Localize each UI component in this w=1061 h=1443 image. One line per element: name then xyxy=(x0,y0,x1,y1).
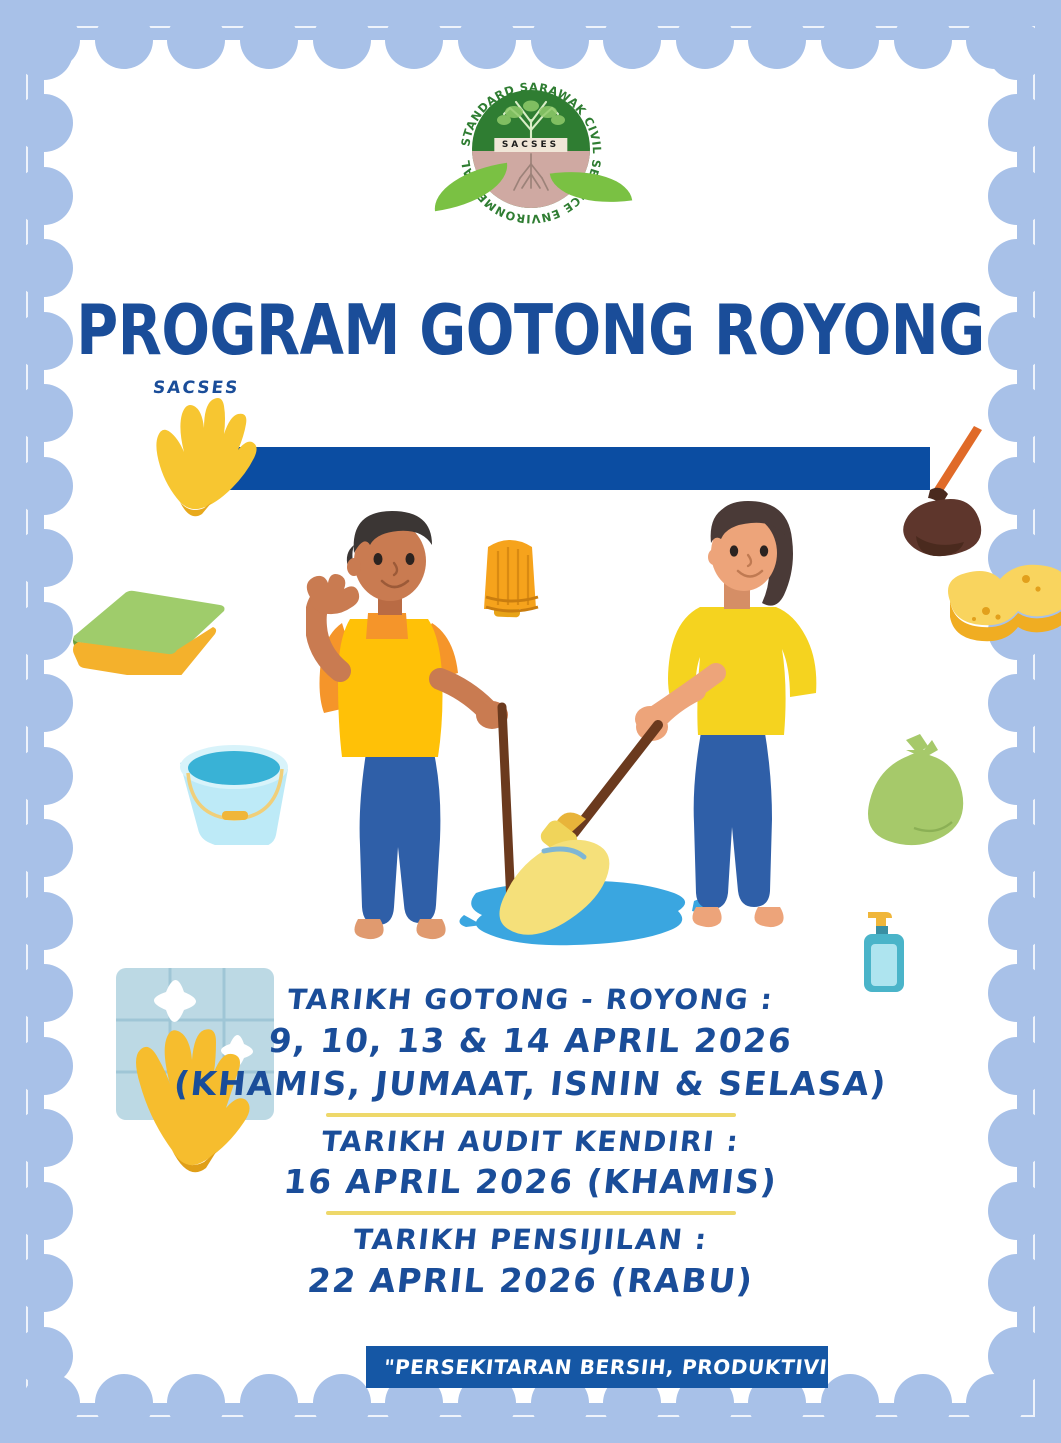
scallop-notch-bottom xyxy=(240,1374,298,1432)
audit-kendiri-value: 16 APRIL 2026 (KHAMIS) xyxy=(42,1161,1020,1204)
divider-1 xyxy=(326,1113,736,1117)
scallop-notch-top xyxy=(240,11,298,69)
scallop-notch-bottom xyxy=(821,1374,879,1432)
scallop-notch-right xyxy=(988,819,1046,877)
poster-root: STANDARD SARAWAK CIVIL SERVICE ENVIRONME… xyxy=(0,0,1061,1443)
scallop-notch-top xyxy=(894,11,952,69)
scallop-notch-bottom xyxy=(966,1374,1024,1432)
scallop-notch-left xyxy=(15,819,73,877)
gotong-royong-days: (KHAMIS, JUMAAT, ISNIN & SELASA) xyxy=(42,1063,1020,1106)
scallop-notch-bottom xyxy=(167,1374,225,1432)
scallop-notch-top xyxy=(22,11,80,69)
scallop-notch-top xyxy=(676,11,734,69)
scallop-notch-right xyxy=(988,674,1046,732)
scallop-notch-right xyxy=(988,892,1046,950)
scallop-notch-top xyxy=(531,11,589,69)
date-group-gotong-royong: TARIKH GOTONG - ROYONG : 9, 10, 13 & 14 … xyxy=(44,980,1017,1106)
scallop-notch-right xyxy=(988,1327,1046,1385)
scallop-notch-left xyxy=(15,457,73,515)
green-trash-bag-icon xyxy=(862,732,972,852)
scallop-notch-left xyxy=(15,22,73,80)
scallop-notch-left xyxy=(15,674,73,732)
scallop-notch-left xyxy=(15,892,73,950)
scallop-notch-top xyxy=(748,11,806,69)
dates-section: TARIKH GOTONG - ROYONG : 9, 10, 13 & 14 … xyxy=(44,980,1017,1303)
pensijilan-value: 22 APRIL 2026 (RABU) xyxy=(42,1260,1020,1303)
pensijilan-label: TARIKH PENSIJILAN : xyxy=(42,1220,1019,1260)
title-block: PROGRAM GOTONG ROYONG SACSES xyxy=(44,295,1017,398)
scallop-notch-bottom xyxy=(22,1374,80,1432)
scallop-notch-top xyxy=(966,11,1024,69)
scallop-notch-top xyxy=(385,11,443,69)
scallop-notch-left xyxy=(15,747,73,805)
scallop-notch-top xyxy=(95,11,153,69)
scallop-notch-right xyxy=(988,239,1046,297)
poster-card: STANDARD SARAWAK CIVIL SERVICE ENVIRONME… xyxy=(44,40,1017,1403)
quote-banner-text: "PERSEKITARAN BERSIH, PRODUKTIVITI MENIN… xyxy=(366,1355,828,1379)
scallop-notch-bottom xyxy=(95,1374,153,1432)
blue-accent-bar xyxy=(226,447,930,490)
gotong-royong-value: 9, 10, 13 & 14 APRIL 2026 xyxy=(42,1020,1020,1063)
quote-banner: "PERSEKITARAN BERSIH, PRODUKTIVITI MENIN… xyxy=(366,1346,828,1388)
scallop-notch-left xyxy=(15,602,73,660)
scallop-notch-top xyxy=(603,11,661,69)
scallop-notch-left xyxy=(15,239,73,297)
plunger-icon xyxy=(894,418,999,558)
scallop-notch-right xyxy=(988,747,1046,805)
green-sponge-icon xyxy=(68,580,228,675)
gotong-royong-label: TARIKH GOTONG - ROYONG : xyxy=(42,980,1019,1020)
logo-container: STANDARD SARAWAK CIVIL SERVICE ENVIRONME… xyxy=(44,88,1017,218)
yellow-sponge-icon xyxy=(934,545,1061,655)
scallop-notch-top xyxy=(821,11,879,69)
scallop-notch-top xyxy=(167,11,225,69)
scallop-notch-bottom xyxy=(894,1374,952,1432)
divider-2 xyxy=(326,1211,736,1215)
two-people-cleaning-illustration xyxy=(306,495,846,955)
yellow-gloves-icon xyxy=(136,392,261,517)
audit-kendiri-label: TARIKH AUDIT KENDIRI : xyxy=(42,1122,1019,1162)
scallop-notch-left xyxy=(15,1327,73,1385)
scallop-notch-top xyxy=(313,11,371,69)
scallop-notch-left xyxy=(15,529,73,587)
blue-bucket-icon xyxy=(172,735,297,845)
page-title: PROGRAM GOTONG ROYONG xyxy=(59,295,1003,365)
scallop-notch-bottom xyxy=(313,1374,371,1432)
logo-band-text: SACSES xyxy=(494,138,567,152)
scallop-notch-top xyxy=(458,11,516,69)
scallop-notch-right xyxy=(988,22,1046,80)
date-group-pensijilan: TARIKH PENSIJILAN : 22 APRIL 2026 (RABU) xyxy=(44,1220,1017,1303)
date-group-audit-kendiri: TARIKH AUDIT KENDIRI : 16 APRIL 2026 (KH… xyxy=(44,1122,1017,1205)
sacses-logo: STANDARD SARAWAK CIVIL SERVICE ENVIRONME… xyxy=(426,88,636,218)
